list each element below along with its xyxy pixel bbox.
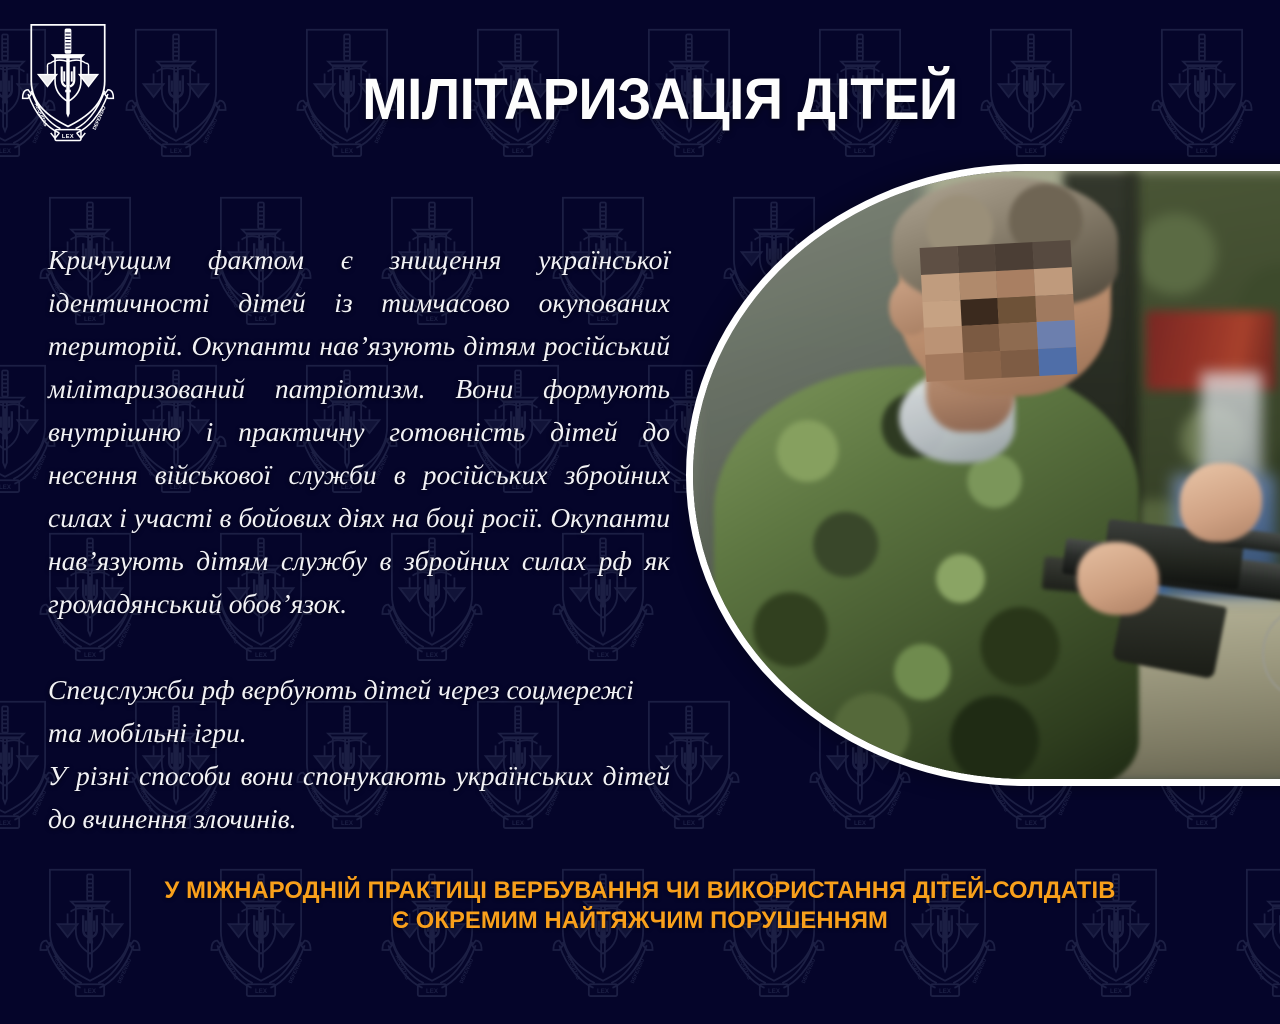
face-mosaic-tile [925, 353, 964, 382]
svg-text:AEQUITAS: AEQUITAS [394, 954, 410, 981]
face-mosaic-tile [1035, 294, 1074, 323]
face-mosaic-tile [958, 271, 997, 300]
svg-text:LEX: LEX [426, 988, 439, 995]
svg-text:AEQUITAS: AEQUITAS [565, 954, 581, 981]
svg-text:AEQUITAS: AEQUITAS [1078, 954, 1094, 981]
svg-text:LEX: LEX [597, 988, 610, 995]
svg-text:DEFENSIO: DEFENSIO [459, 958, 475, 985]
page-title: МІЛІТАРИЗАЦІЯ ДІТЕЙ [322, 69, 999, 131]
face-mosaic-tile [921, 273, 960, 302]
face-mosaic-tile [1037, 320, 1076, 349]
svg-text:LEX: LEX [854, 820, 867, 827]
svg-text:AEQUITAS: AEQUITAS [1249, 954, 1265, 981]
svg-text:AEQUITAS: AEQUITAS [52, 954, 68, 981]
footer-banner: У МІЖНАРОДНІЙ ПРАКТИЦІ ВЕРБУВАННЯ ЧИ ВИК… [19, 876, 1261, 936]
svg-text:LEX: LEX [1025, 820, 1038, 827]
svg-text:LEX: LEX [939, 988, 952, 995]
svg-text:LEX: LEX [0, 148, 11, 155]
footer-line-1: У МІЖНАРОДНІЙ ПРАКТИЦІ ВЕРБУВАННЯ ЧИ ВИК… [19, 876, 1261, 906]
body-paragraph-3: У різні способи вони спонукають українсь… [48, 754, 670, 840]
face-mosaic-tile [996, 269, 1035, 298]
slide-canvas: LEXAEQUITASDEFENSIOLEXAEQUITASDEFENSIOLE… [0, 0, 1280, 1024]
svg-text:AEQUITAS: AEQUITAS [137, 114, 153, 141]
svg-text:AEQUITAS: AEQUITAS [1163, 114, 1179, 141]
svg-text:DEFENSIO: DEFENSIO [288, 958, 304, 985]
svg-text:LEX: LEX [1110, 988, 1123, 995]
svg-text:LEX: LEX [341, 148, 354, 155]
photo-frame [686, 164, 1280, 786]
body-paragraph-2: Спецслужби рф вербують дітей через соцме… [48, 668, 670, 754]
photo-image [693, 171, 1280, 779]
face-mosaic-tile [995, 242, 1034, 271]
body-paragraph-2-text: Спецслужби рф вербують дітей через соцме… [48, 674, 634, 748]
photo-container [672, 150, 1280, 800]
svg-text:LEX: LEX [84, 988, 97, 995]
svg-text:AEQUITAS: AEQUITAS [223, 954, 239, 981]
photo-subject-hand-rear [1180, 463, 1262, 542]
svg-text:LEX: LEX [62, 134, 74, 140]
face-mosaic-tile [998, 295, 1037, 324]
svg-text:DEFENSIO: DEFENSIO [202, 118, 218, 145]
svg-text:LEX: LEX [255, 988, 268, 995]
svg-text:LEX: LEX [170, 148, 183, 155]
face-mosaic-tile [924, 326, 963, 355]
prosecutor-emblem-icon: LEX AEQUITAS DEFENSIO [14, 14, 122, 146]
svg-text:AEQUITAS: AEQUITAS [907, 954, 923, 981]
face-mosaic-tile [960, 297, 999, 326]
face-mosaic-tile [1032, 240, 1071, 269]
svg-text:LEX: LEX [683, 820, 696, 827]
svg-text:LEX: LEX [0, 484, 11, 491]
body-paragraph-1: Кричущим фактом є знищення української і… [48, 238, 670, 625]
svg-text:DEFENSIO: DEFENSIO [31, 454, 47, 481]
svg-text:DEFENSIO: DEFENSIO [801, 958, 817, 985]
photo-blurred-face-mosaic [919, 240, 1077, 381]
svg-text:DEFENSIO: DEFENSIO [31, 790, 47, 817]
photo-subject-hand-front [1077, 542, 1159, 615]
face-mosaic-tile [1034, 267, 1073, 296]
svg-text:DEFENSIO: DEFENSIO [1143, 958, 1159, 985]
face-mosaic-tile [957, 244, 996, 273]
face-mosaic-tile [919, 246, 958, 275]
footer-line-2: Є ОКРЕМИМ НАЙТЯЖЧИМ ПОРУШЕННЯМ [19, 906, 1261, 936]
svg-text:AEQUITAS: AEQUITAS [736, 954, 752, 981]
svg-text:DEFENSIO: DEFENSIO [1057, 118, 1073, 145]
face-mosaic-tile [961, 324, 1000, 353]
svg-text:LEX: LEX [1196, 820, 1209, 827]
svg-text:LEX: LEX [0, 820, 11, 827]
svg-text:LEX: LEX [512, 148, 525, 155]
svg-text:DEFENSIO: DEFENSIO [630, 958, 646, 985]
watermark-emblem-icon: LEXAEQUITASDEFENSIO [1143, 18, 1261, 162]
face-mosaic-tile [963, 351, 1002, 380]
svg-text:LEX: LEX [768, 988, 781, 995]
body-text: Кричущим фактом є знищення української і… [48, 238, 670, 840]
face-mosaic-tile [1038, 347, 1077, 376]
face-mosaic-tile [922, 299, 961, 328]
svg-text:DEFENSIO: DEFENSIO [972, 958, 988, 985]
face-mosaic-tile [1000, 349, 1039, 378]
watermark-emblem-icon: LEXAEQUITASDEFENSIO [117, 18, 235, 162]
svg-text:DEFENSIO: DEFENSIO [117, 958, 133, 985]
face-mosaic-tile [999, 322, 1038, 351]
svg-text:DEFENSIO: DEFENSIO [1228, 118, 1244, 145]
